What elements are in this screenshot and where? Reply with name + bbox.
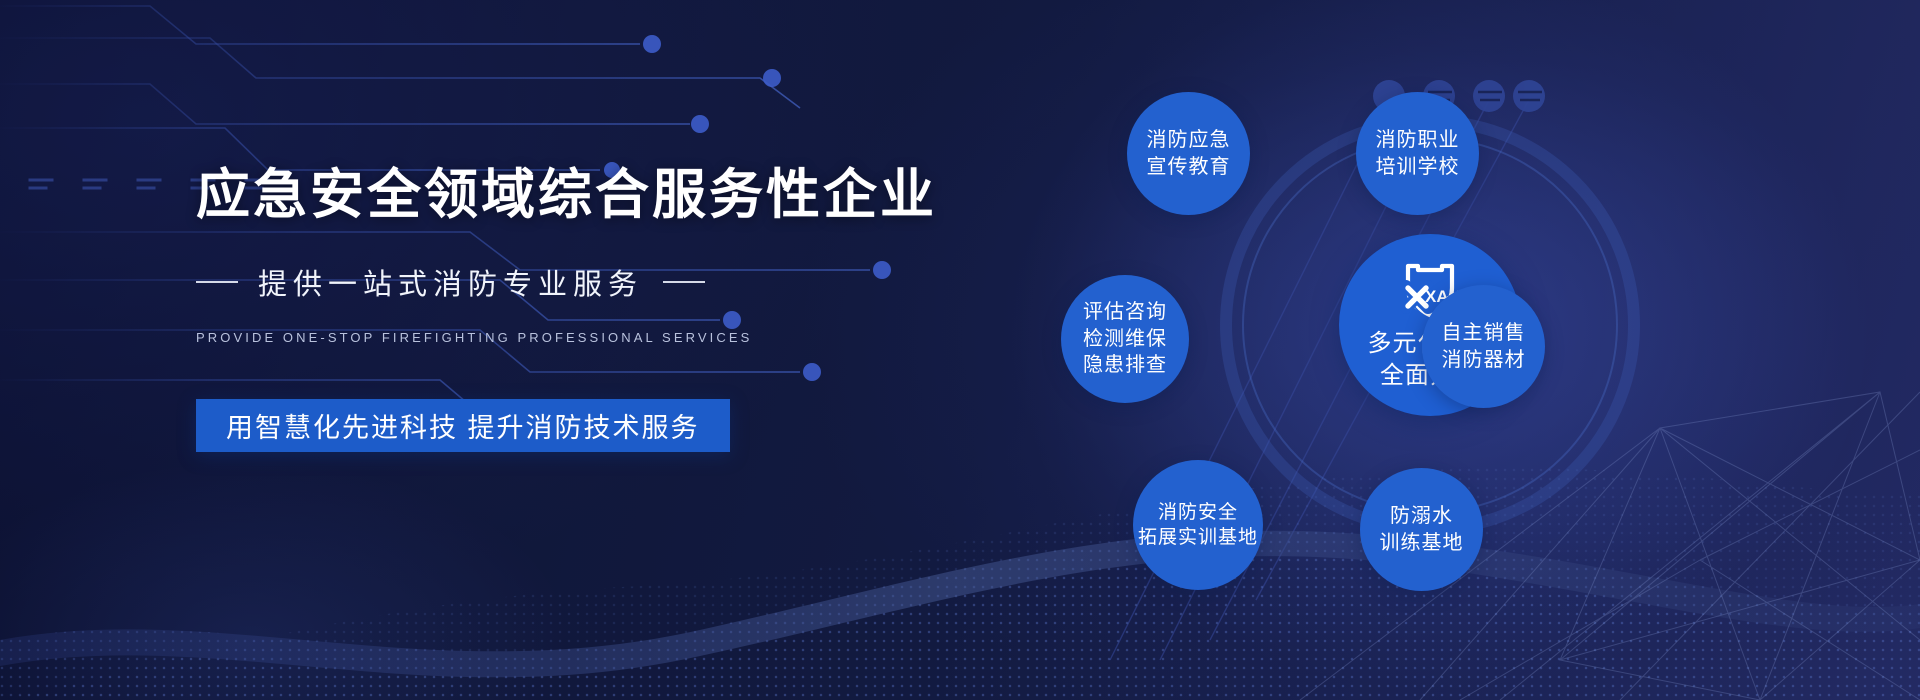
- node-line1: 自主销售: [1442, 320, 1526, 347]
- node-line2: 培训学校: [1376, 154, 1460, 181]
- subtitle-row: 提供一站式消防专业服务: [196, 261, 936, 303]
- hero-banner: 应急安全领域综合服务性企业 提供一站式消防专业服务 PROVIDE ONE-ST…: [0, 0, 1920, 700]
- service-node-fire-vocational-school[interactable]: 消防职业 培训学校: [1356, 92, 1479, 215]
- page-title: 应急安全领域综合服务性企业: [196, 165, 936, 225]
- service-node-assessment-inspection[interactable]: 评估咨询 检测维保 隐患排查: [1061, 275, 1189, 403]
- node-line1: 防溺水: [1390, 503, 1453, 530]
- node-line2: 训练基地: [1380, 530, 1464, 557]
- rule-left-icon: [196, 281, 238, 283]
- service-node-anti-drowning-base[interactable]: 防溺水 训练基地: [1360, 468, 1483, 591]
- hero-copy: 应急安全领域综合服务性企业 提供一站式消防专业服务 PROVIDE ONE-ST…: [196, 165, 936, 452]
- page-subtitle: 提供一站式消防专业服务: [258, 261, 643, 303]
- rule-right-icon: [663, 281, 705, 283]
- service-node-equipment-sales[interactable]: 自主销售 消防器材: [1422, 285, 1545, 408]
- node-line2: 消防器材: [1442, 347, 1526, 374]
- node-line2: 宣传教育: [1147, 154, 1231, 181]
- node-line1: 消防应急: [1147, 127, 1231, 154]
- node-line1: 消防职业: [1376, 127, 1460, 154]
- english-tagline: PROVIDE ONE-STOP FIREFIGHTING PROFESSION…: [196, 330, 936, 345]
- node-line2: 检测维保: [1083, 326, 1167, 353]
- cta-button[interactable]: 用智慧化先进科技 提升消防技术服务: [196, 399, 730, 452]
- node-line2: 拓展实训基地: [1138, 525, 1258, 550]
- node-line3: 隐患排查: [1083, 352, 1167, 379]
- services-wheel-diagram: XAN 多元化产业 全面开展 消防应急 宣传教育 消防职业 培训学校 评估咨询 …: [1100, 40, 1760, 660]
- node-line1: 消防安全: [1158, 500, 1238, 525]
- service-node-safety-training-base[interactable]: 消防安全 拓展实训基地: [1133, 460, 1263, 590]
- node-line1: 评估咨询: [1083, 299, 1167, 326]
- service-node-fire-emergency-publicity[interactable]: 消防应急 宣传教育: [1127, 92, 1250, 215]
